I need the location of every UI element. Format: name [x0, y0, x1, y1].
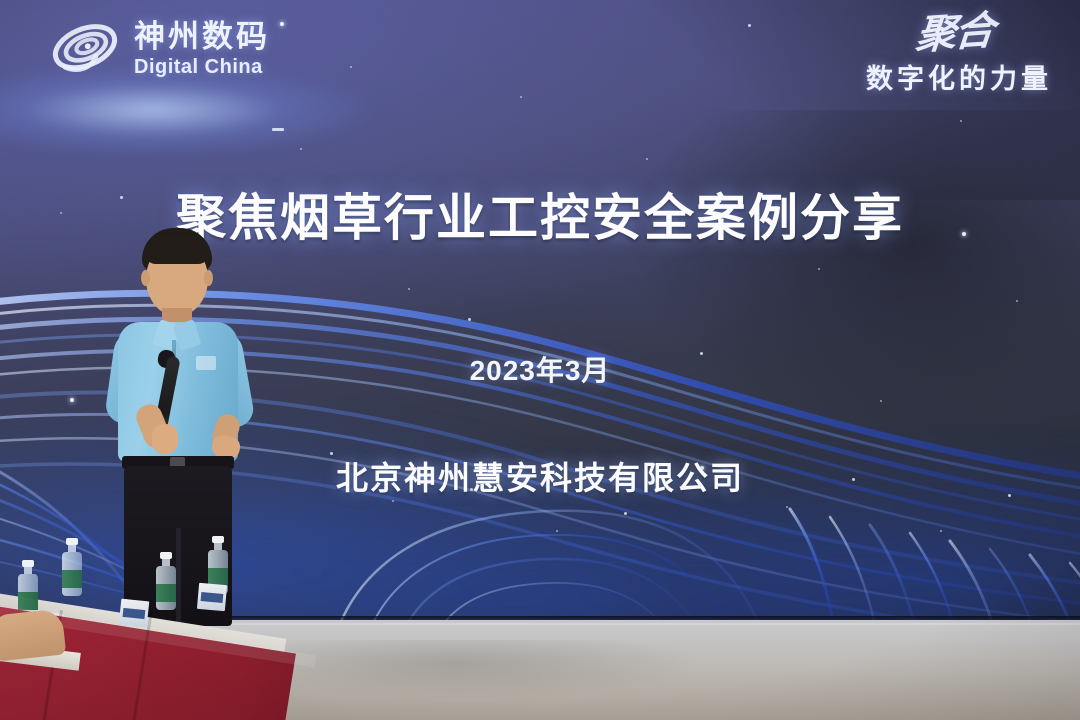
sparkle-dot	[280, 22, 284, 26]
sparkle-dot	[70, 398, 74, 402]
company-logo-patch-icon	[196, 356, 216, 370]
bottle-cap	[212, 536, 224, 543]
bottle-label	[156, 584, 176, 602]
name-card	[197, 583, 227, 611]
sparkle-dot	[392, 500, 394, 502]
brand-lockup: 神州数码 Digital China	[48, 18, 270, 80]
sparkle-dot	[748, 24, 751, 27]
speaker-ear-left	[141, 270, 150, 286]
name-card-text-bar	[201, 592, 224, 603]
name-card-text-bar	[123, 608, 146, 619]
event-logo-block: 聚合 数字化的力量	[866, 16, 1052, 96]
sparkle-dot	[960, 120, 962, 122]
brand-name-en: Digital China	[134, 57, 270, 77]
event-calligraphy: 聚合	[864, 12, 994, 59]
sparkle-dot	[786, 506, 788, 508]
sparkle-dot	[646, 158, 648, 160]
speaker-ear-right	[204, 270, 213, 286]
sparkle-dot	[940, 530, 942, 532]
bottle-label	[18, 592, 38, 610]
bottle-cap	[160, 552, 172, 559]
floor-shadow	[230, 640, 790, 720]
speaker-hand-left	[152, 424, 178, 454]
bottle-cap	[66, 538, 78, 545]
attendee-hands	[0, 608, 66, 661]
bottle-cap	[22, 560, 34, 567]
water-bottle	[62, 538, 82, 596]
sparkle-dot	[556, 530, 558, 532]
brand-name-cn: 神州数码	[134, 21, 270, 52]
digital-china-spiral-logo-icon	[48, 18, 122, 80]
name-card	[119, 599, 150, 628]
bottle-label	[62, 570, 82, 588]
speaker-hair-front	[144, 236, 210, 264]
water-bottle	[156, 552, 176, 610]
sparkle-dot	[624, 512, 627, 515]
event-tagline: 数字化的力量	[866, 57, 1052, 96]
screenshot-root: 神州数码 Digital China 聚合 数字化的力量 聚焦烟草行业工控安全案…	[0, 0, 1080, 720]
